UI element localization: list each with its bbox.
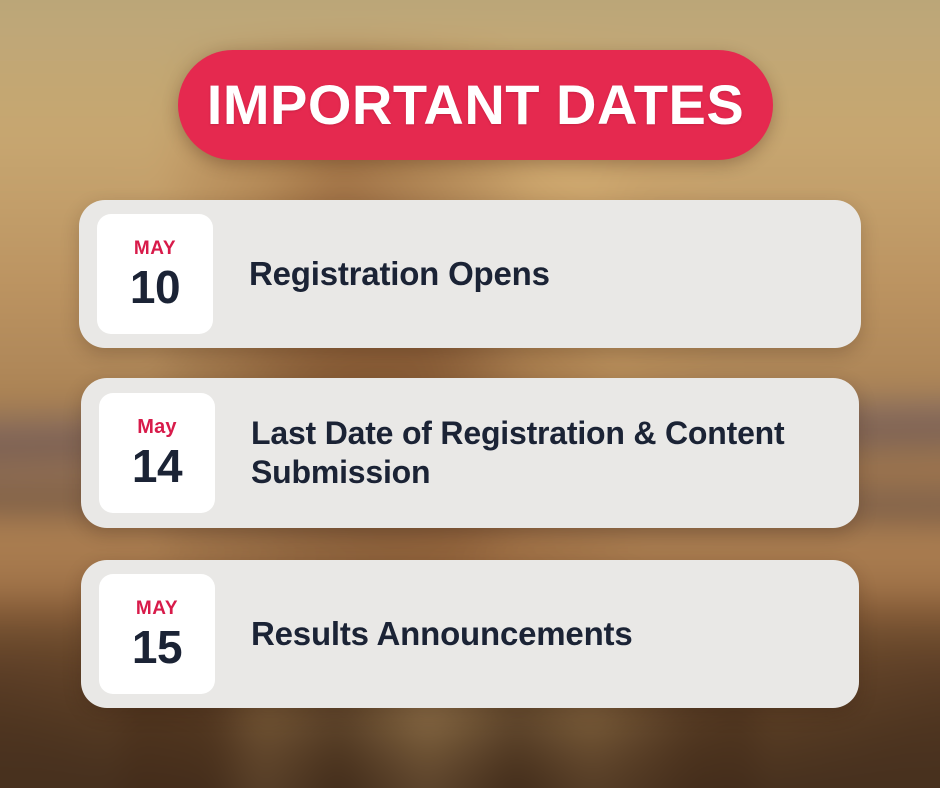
- date-month-label: MAY: [136, 599, 178, 618]
- schedule-item-label: Registration Opens: [213, 254, 843, 294]
- date-day-number: 15: [132, 624, 182, 670]
- page-title: IMPORTANT DATES: [207, 77, 744, 133]
- date-day-number: 10: [130, 264, 180, 310]
- schedule-item: MAY 10 Registration Opens: [79, 200, 861, 348]
- schedule-item-label: Last Date of Registration & Content Subm…: [215, 414, 841, 492]
- schedule-item: May 14 Last Date of Registration & Conte…: [81, 378, 859, 528]
- poster-content: IMPORTANT DATES MAY 10 Registration Open…: [0, 0, 940, 788]
- schedule-list: MAY 10 Registration Opens May 14 Last Da…: [0, 200, 940, 708]
- page-title-badge: IMPORTANT DATES: [178, 50, 773, 160]
- schedule-item-label: Results Announcements: [215, 614, 841, 654]
- important-dates-poster: IMPORTANT DATES MAY 10 Registration Open…: [0, 0, 940, 788]
- date-badge: MAY 10: [97, 214, 213, 334]
- date-month-label: MAY: [134, 239, 176, 258]
- date-badge: May 14: [99, 393, 215, 513]
- date-month-label: May: [137, 417, 177, 437]
- schedule-item: MAY 15 Results Announcements: [81, 560, 859, 708]
- date-day-number: 14: [132, 443, 182, 489]
- date-badge: MAY 15: [99, 574, 215, 694]
